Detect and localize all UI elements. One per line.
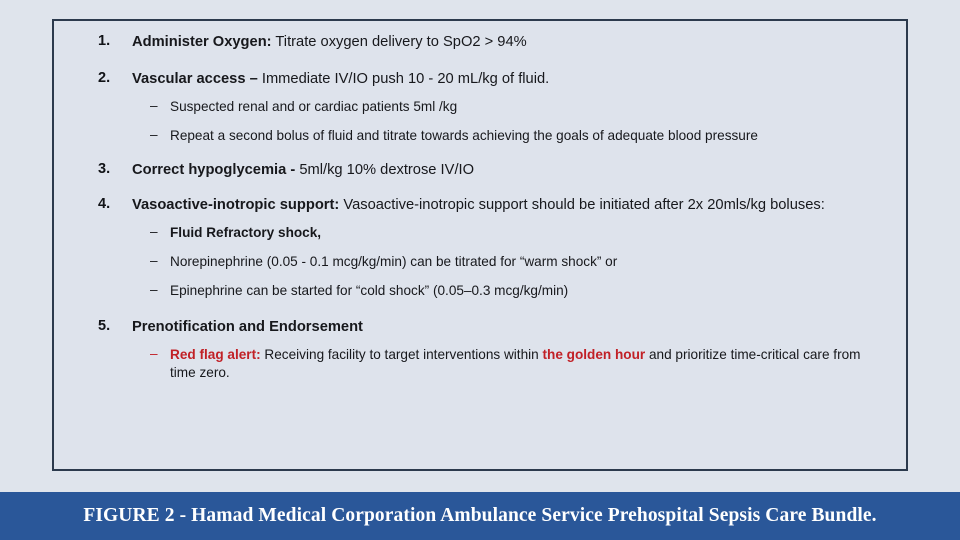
red-flag-alert-text: Red flag alert: Receiving facility to ta… [170, 346, 884, 382]
step-5: 5. Prenotification and Endorsement – Red… [98, 318, 884, 382]
sepsis-care-bundle-box: 1. Administer Oxygen: Titrate oxygen del… [52, 19, 908, 471]
dash-icon: – [150, 98, 158, 113]
figure-caption-text: FIGURE 2 - Hamad Medical Corporation Amb… [83, 505, 876, 527]
step-4-sub-1-text: Fluid Refractory shock, [170, 224, 884, 242]
step-2-rest: Immediate IV/IO push 10 - 20 mL/kg of fl… [258, 71, 549, 87]
step-5-sublist: – Red flag alert: Receiving facility to … [132, 346, 884, 382]
dash-icon: – [150, 127, 158, 142]
step-4-number: 4. [98, 196, 110, 212]
step-3: 3. Correct hypoglycemia - 5ml/kg 10% dex… [98, 161, 884, 180]
figure-root: 1. Administer Oxygen: Titrate oxygen del… [0, 0, 960, 540]
step-4-sub-1-lead: Fluid Refractory shock, [170, 225, 321, 240]
step-2-sub-2: – Repeat a second bolus of fluid and tit… [132, 127, 884, 145]
step-5-lead: Prenotification and Endorsement [132, 319, 363, 335]
step-4-text: Vasoactive-inotropic support: Vasoactive… [132, 196, 884, 215]
golden-hour-highlight: the golden hour [542, 347, 645, 362]
step-4-sub-2: – Norepinephrine (0.05 - 0.1 mcg/kg/min)… [132, 253, 884, 271]
step-2-text: Vascular access – Immediate IV/IO push 1… [132, 70, 884, 89]
step-4: 4. Vasoactive-inotropic support: Vasoact… [98, 196, 884, 300]
step-2-sub-1-text: Suspected renal and or cardiac patients … [170, 98, 884, 116]
dash-icon: – [150, 224, 158, 239]
step-3-lead: Correct hypoglycemia - [132, 162, 295, 178]
red-flag-label: Red flag alert: [170, 347, 261, 362]
step-4-sub-3: – Epinephrine can be started for “cold s… [132, 282, 884, 300]
dash-icon: – [150, 346, 158, 361]
step-4-sub-3-text: Epinephrine can be started for “cold sho… [170, 282, 884, 300]
step-3-rest: 5ml/kg 10% dextrose IV/IO [295, 162, 474, 178]
step-4-sub-1: – Fluid Refractory shock, [132, 224, 884, 242]
dash-icon: – [150, 253, 158, 268]
step-3-text: Correct hypoglycemia - 5ml/kg 10% dextro… [132, 161, 884, 180]
dash-icon: – [150, 282, 158, 297]
step-3-number: 3. [98, 161, 110, 177]
step-2: 2. Vascular access – Immediate IV/IO pus… [98, 70, 884, 145]
figure-caption-bar: FIGURE 2 - Hamad Medical Corporation Amb… [0, 492, 960, 540]
step-1-rest: Titrate oxygen delivery to SpO2 > 94% [272, 34, 527, 50]
step-4-sub-2-text: Norepinephrine (0.05 - 0.1 mcg/kg/min) c… [170, 253, 884, 271]
red-flag-part1: Receiving facility to target interventio… [261, 347, 543, 362]
step-1-text: Administer Oxygen: Titrate oxygen delive… [132, 33, 884, 52]
step-2-sub-2-text: Repeat a second bolus of fluid and titra… [170, 127, 884, 145]
step-5-text: Prenotification and Endorsement [132, 318, 884, 337]
step-2-number: 2. [98, 70, 110, 86]
step-2-sublist: – Suspected renal and or cardiac patient… [132, 98, 884, 145]
step-4-lead: Vasoactive-inotropic support: [132, 197, 339, 213]
step-4-sublist: – Fluid Refractory shock, – Norepinephri… [132, 224, 884, 300]
step-4-rest: Vasoactive-inotropic support should be i… [339, 197, 825, 213]
step-2-sub-1: – Suspected renal and or cardiac patient… [132, 98, 884, 116]
red-flag-alert: – Red flag alert: Receiving facility to … [132, 346, 884, 382]
step-2-lead: Vascular access – [132, 71, 258, 87]
step-1-lead: Administer Oxygen: [132, 34, 272, 50]
steps-list: 1. Administer Oxygen: Titrate oxygen del… [98, 33, 884, 388]
step-5-number: 5. [98, 318, 110, 334]
step-1-number: 1. [98, 33, 110, 49]
step-1: 1. Administer Oxygen: Titrate oxygen del… [98, 33, 884, 52]
